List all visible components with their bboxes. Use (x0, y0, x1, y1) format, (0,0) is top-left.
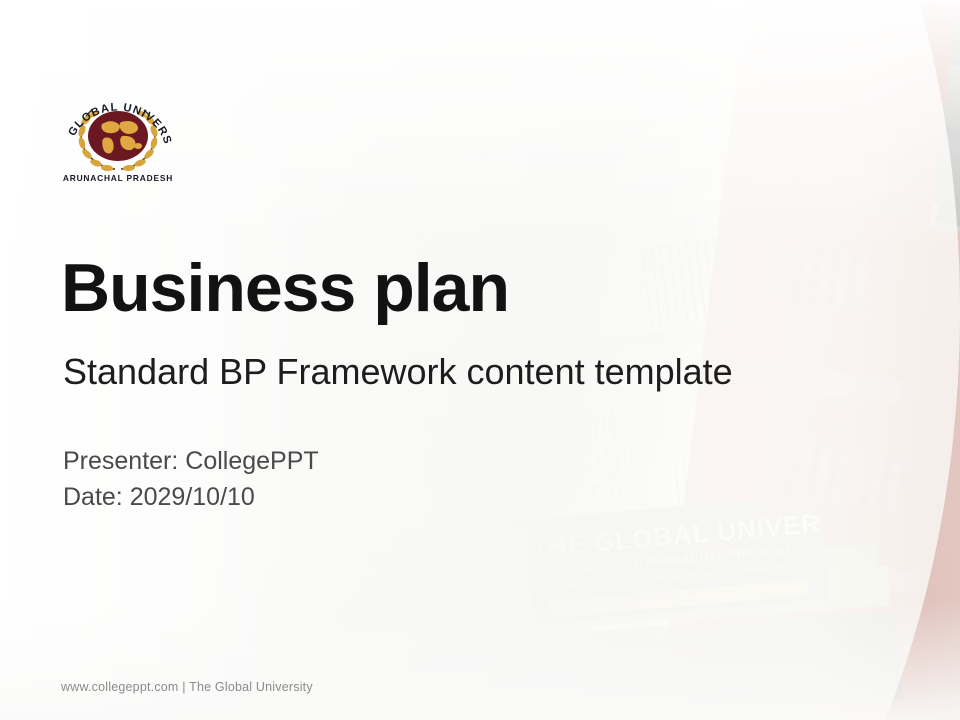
slide-meta: Presenter: CollegePPT Date: 2029/10/10 (63, 443, 319, 516)
slide-subtitle: Standard BP Framework content template (63, 352, 733, 392)
presentation-slide: THE GLOBAL UNIVERSITY ITANAGAR, ARUNACHA… (0, 0, 960, 720)
university-logo: THE GLOBAL UNIVERSITY ARUNACHAL PRADESH (58, 76, 178, 186)
slide-footer: www.collegeppt.com | The Global Universi… (61, 680, 313, 694)
slide-title: Business plan (61, 254, 509, 322)
date-line: Date: 2029/10/10 (63, 479, 319, 515)
presenter-line: Presenter: CollegePPT (63, 443, 319, 479)
logo-bottom-text: ARUNACHAL PRADESH (63, 173, 173, 183)
